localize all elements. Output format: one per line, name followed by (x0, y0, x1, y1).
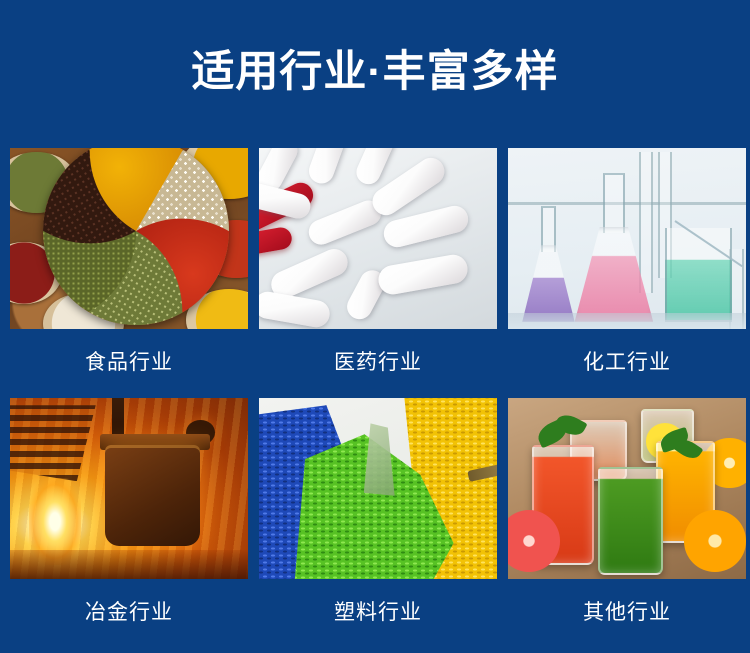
flask-neck (541, 206, 556, 252)
industry-label-food: 食品行业 (10, 329, 248, 396)
lab-glassware-photo (508, 148, 746, 329)
industry-label-plastics: 塑料行业 (259, 579, 497, 646)
industry-grid: 食品行业 (10, 148, 740, 646)
industry-card-other[interactable]: 其他行业 (508, 398, 746, 646)
fresh-juices-photo (508, 398, 746, 579)
molten-metal-ladle (105, 445, 200, 546)
purple-liquid (522, 245, 574, 321)
white-tablets-photo (259, 148, 497, 329)
industry-card-metallurgy[interactable]: 冶金行业 (10, 398, 248, 646)
industry-label-chemical: 化工行业 (508, 329, 746, 396)
flask-neck (603, 173, 625, 232)
page-title: 适用行业·丰富多样 (0, 46, 750, 98)
purple-conical-flask (522, 206, 574, 322)
pink-erlenmeyer-flask (575, 173, 654, 321)
industry-label-pharmaceutical: 医药行业 (259, 329, 497, 396)
industry-application-banner: 适用行业·丰富多样 (0, 0, 750, 653)
bench-surface (508, 313, 746, 329)
pink-liquid (575, 227, 654, 322)
orange-slice (684, 510, 746, 572)
spices-bowl-photo (10, 148, 248, 329)
industry-card-plastics[interactable]: 塑料行业 (259, 398, 497, 646)
green-juice-glass (598, 467, 662, 576)
wooden-spice-bowl (43, 148, 229, 325)
foundry-floor (10, 550, 248, 579)
industry-card-food[interactable]: 食品行业 (10, 148, 248, 396)
industry-label-other: 其他行业 (508, 579, 746, 646)
green-beaker (665, 228, 732, 322)
plastic-pellets-photo (259, 398, 497, 579)
industry-card-chemical[interactable]: 化工行业 (508, 148, 746, 396)
industry-label-metallurgy: 冶金行业 (10, 579, 248, 646)
steel-foundry-photo (10, 398, 248, 579)
industry-card-pharmaceutical[interactable]: 医药行业 (259, 148, 497, 396)
